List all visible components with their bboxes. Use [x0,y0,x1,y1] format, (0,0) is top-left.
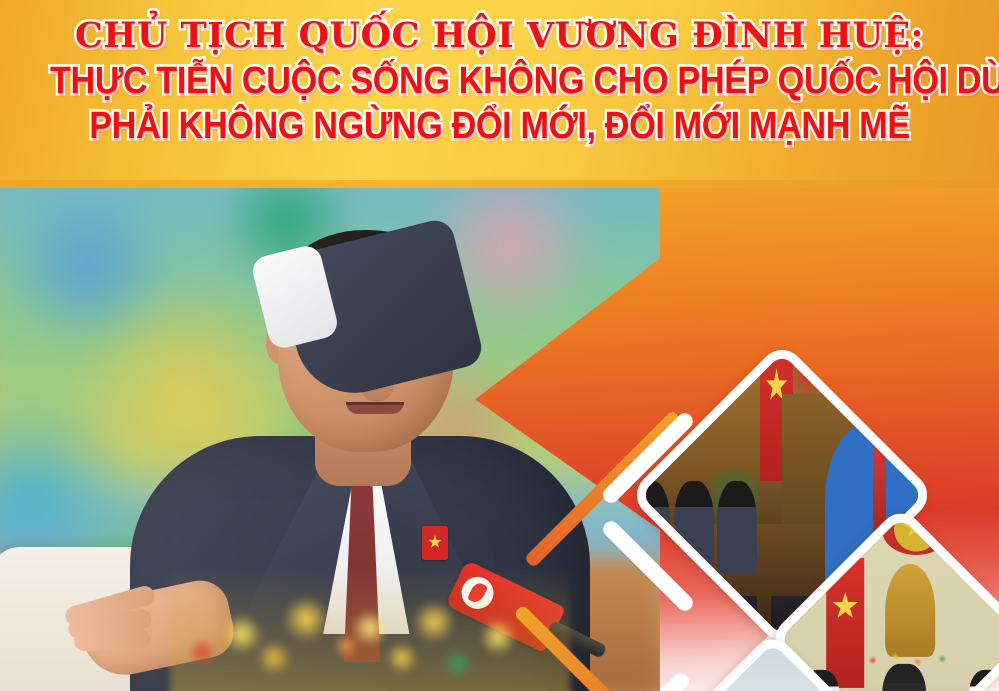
desk-monitor-2 [696,596,757,649]
poster-title: CHỦ TỊCH QUỐC HỘI VƯƠNG ĐÌNH HUỆ: THỰC T… [0,18,999,145]
finger-3 [74,629,151,652]
title-line-2: THỰC TIỄN CUỘC SỐNG KHÔNG CHO PHÉP QUỐC … [50,62,949,100]
title-banner: CHỦ TỊCH QUỐC HỘI VƯƠNG ĐÌNH HUỆ: THỰC T… [0,0,999,188]
title-line-1: CHỦ TỊCH QUỐC HỘI VƯƠNG ĐÌNH HUỆ: [0,18,999,53]
delegate-2 [674,481,714,575]
main-portrait-photo [0,188,660,691]
title-line-3: PHẢI KHÔNG NGỪNG ĐỔI MỚI, ĐỔI MỚI MẠNH M… [50,107,949,145]
panelist-right [969,670,999,691]
mouth [346,402,404,414]
imagery-stage [0,188,999,691]
flag-pin-badge [422,526,448,560]
infographic-poster: CHỦ TỊCH QUỐC HỘI VƯƠNG ĐÌNH HUỆ: THỰC T… [0,0,999,691]
flower-arrangement [170,565,570,691]
delegate-3 [717,481,757,575]
ho-chi-minh-statue [886,565,936,658]
